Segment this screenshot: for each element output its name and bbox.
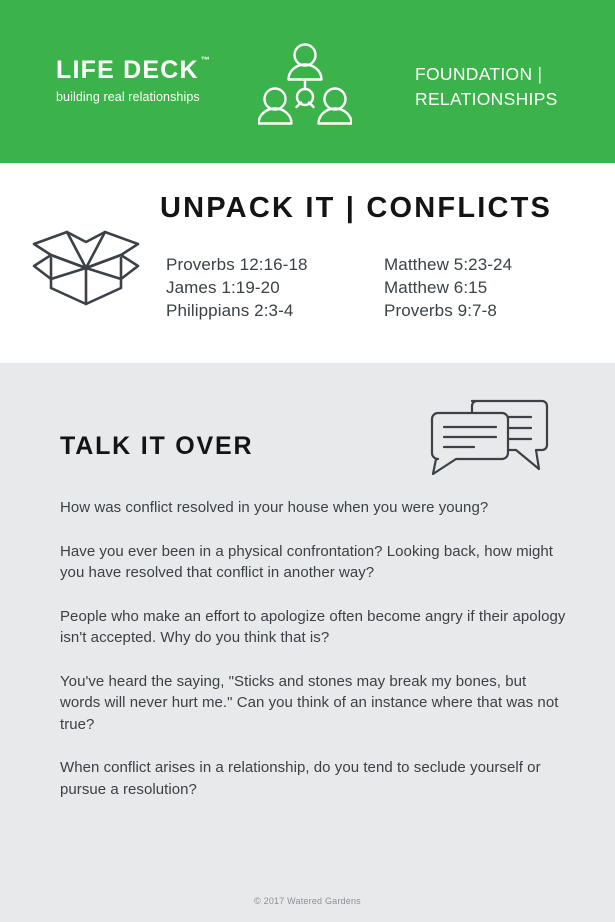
question-item: How was conflict resolved in your house … xyxy=(60,497,570,519)
trademark-symbol: ™ xyxy=(201,56,210,65)
reference-column-1: Proverbs 12:16-18 James 1:19-20 Philippi… xyxy=(166,253,384,322)
question-item: People who make an effort to apologize o… xyxy=(60,606,570,649)
life-deck-card: LIFE DECK™ building real relationships xyxy=(0,0,615,922)
talk-it-over-title: TALK IT OVER xyxy=(60,432,253,461)
reference-column-2: Matthew 5:23-24 Matthew 6:15 Proverbs 9:… xyxy=(384,253,512,322)
footer-copyright: © 2017 Watered Gardens xyxy=(0,896,615,906)
scripture-references: Proverbs 12:16-18 James 1:19-20 Philippi… xyxy=(166,253,512,322)
reference-item: Matthew 6:15 xyxy=(384,276,512,299)
brand-name: LIFE DECK™ xyxy=(56,58,199,83)
open-box-icon xyxy=(30,222,142,307)
header-category-line1: FOUNDATION | xyxy=(415,62,558,87)
reference-item: Matthew 5:23-24 xyxy=(384,253,512,276)
header-band: LIFE DECK™ building real relationships xyxy=(0,0,615,163)
discussion-questions: How was conflict resolved in your house … xyxy=(60,497,570,800)
brand-tagline: building real relationships xyxy=(56,90,236,104)
people-network-icon xyxy=(258,42,352,132)
brand-name-text: LIFE DECK xyxy=(56,56,199,84)
question-item: You've heard the saying, "Sticks and sto… xyxy=(60,671,570,736)
speech-bubbles-icon xyxy=(430,395,550,475)
reference-item: James 1:19-20 xyxy=(166,276,384,299)
unpack-it-title: UNPACK IT | CONFLICTS xyxy=(160,192,552,225)
reference-item: Proverbs 12:16-18 xyxy=(166,253,384,276)
reference-item: Proverbs 9:7-8 xyxy=(384,299,512,322)
question-item: Have you ever been in a physical confron… xyxy=(60,541,570,584)
reference-item: Philippians 2:3-4 xyxy=(166,299,384,322)
brand-logo: LIFE DECK™ building real relationships xyxy=(56,58,236,104)
header-category-line2: RELATIONSHIPS xyxy=(415,87,558,112)
header-category: FOUNDATION | RELATIONSHIPS xyxy=(415,62,558,112)
question-item: When conflict arises in a relationship, … xyxy=(60,757,570,800)
